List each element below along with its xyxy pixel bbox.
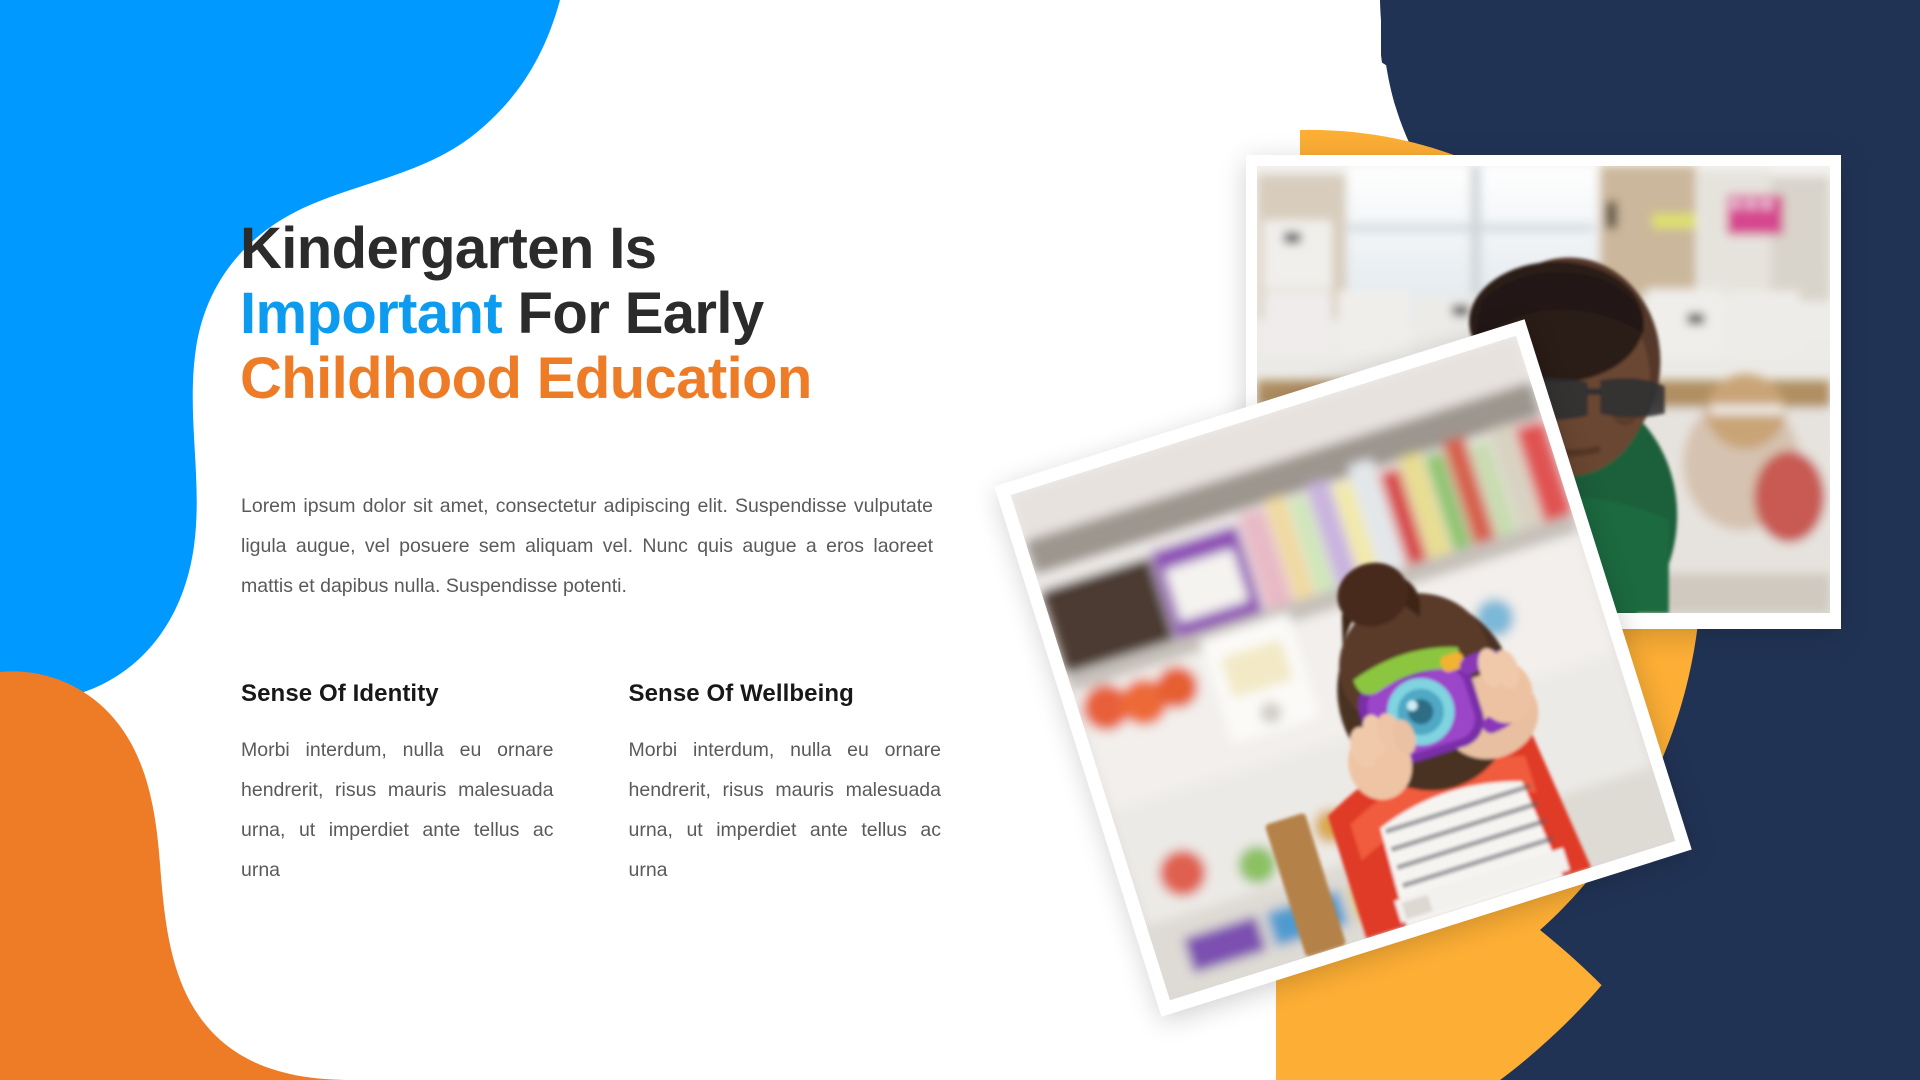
feature-column-wellbeing: Sense Of Wellbeing Morbi interdum, nulla… <box>629 680 942 891</box>
feature-column-identity: Sense Of Identity Morbi interdum, nulla … <box>241 680 554 891</box>
text-content-area: Kindergarten Is Important For Early Chil… <box>240 0 940 1080</box>
headline-line-1: Kindergarten Is <box>240 217 940 282</box>
headline-highlight-important: Important <box>240 281 502 346</box>
headline-line-2-rest: For Early <box>502 281 764 346</box>
feature-heading-wellbeing: Sense Of Wellbeing <box>629 680 942 708</box>
slide-canvas: Kindergarten Is Important For Early Chil… <box>0 0 1920 1080</box>
headline-line-2: Important For Early <box>240 282 940 347</box>
page-title: Kindergarten Is Important For Early Chil… <box>240 217 940 412</box>
lead-paragraph: Lorem ipsum dolor sit amet, consectetur … <box>241 486 933 606</box>
headline-line-3: Childhood Education <box>240 347 940 412</box>
feature-body-identity: Morbi interdum, nulla eu ornare hendreri… <box>241 730 554 891</box>
feature-body-wellbeing: Morbi interdum, nulla eu ornare hendreri… <box>629 730 942 891</box>
feature-columns: Sense Of Identity Morbi interdum, nulla … <box>241 680 941 891</box>
feature-heading-identity: Sense Of Identity <box>241 680 554 708</box>
